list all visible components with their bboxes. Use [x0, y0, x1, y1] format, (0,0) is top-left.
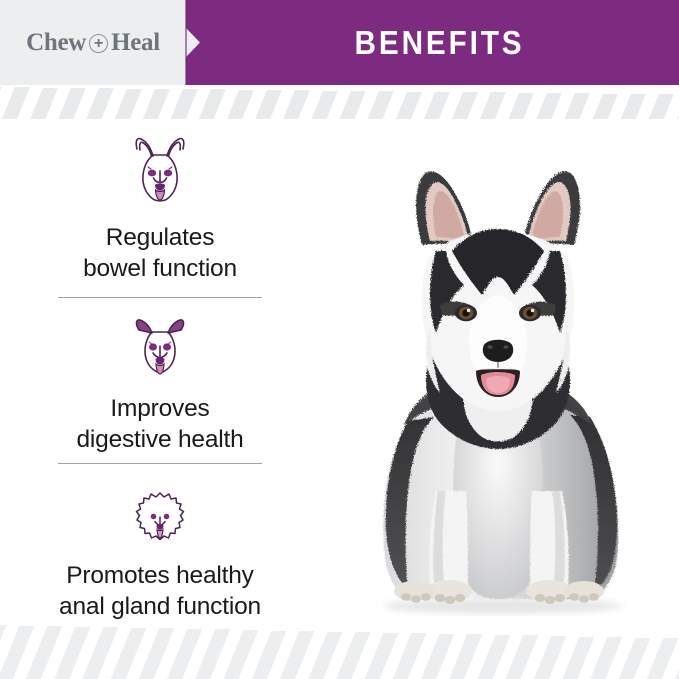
benefit-divider-1 [58, 297, 262, 298]
benefit-label-3: Promotes healthy anal gland function [0, 561, 320, 623]
brand-logo: Chew + Heal [0, 0, 186, 85]
benefit-label-2: Improves digestive health [0, 394, 320, 456]
benefit-divider-2 [58, 463, 262, 464]
page-title: BENEFITS [224, 0, 655, 85]
brand-name-part2: Heal [111, 29, 160, 57]
bottom-stripe-band [0, 617, 679, 679]
corgi-dog-face-icon [0, 133, 320, 213]
benefits-list: Regulates bowel function [0, 119, 320, 617]
stripe [673, 95, 679, 120]
stripe [1, 87, 30, 119]
benefit-item-3: Promotes healthy anal gland function [0, 471, 320, 623]
husky-dog-sitting-photo [318, 119, 679, 617]
stripe [645, 94, 674, 119]
stripe [29, 88, 58, 119]
benefit-label-1: Regulates bowel function [0, 223, 320, 285]
stripe [477, 92, 506, 119]
plus-circle-icon: + [89, 34, 108, 53]
stripe [421, 92, 450, 119]
stripe [281, 90, 310, 119]
stripe [533, 93, 562, 119]
stripe [365, 91, 394, 119]
stripe [225, 90, 254, 119]
stripe [197, 89, 226, 119]
benefit-item-1: Regulates bowel function [0, 133, 320, 285]
stripe [113, 89, 142, 120]
stripe [57, 88, 86, 119]
stripe [617, 94, 646, 119]
fluffy-dog-face-icon [0, 471, 320, 551]
stripe [169, 89, 198, 119]
stripe [589, 94, 618, 119]
header-bar: Chew + Heal BENEFITS [0, 0, 679, 85]
stripe [0, 87, 2, 119]
stripe [561, 93, 590, 119]
stripe [309, 91, 338, 119]
stripe [505, 93, 534, 119]
stripe [85, 88, 114, 119]
stripe [337, 91, 366, 119]
stripe [141, 89, 170, 119]
stripe [253, 90, 282, 119]
terrier-dog-face-icon [0, 304, 320, 384]
stripe [449, 92, 478, 119]
top-stripe-band [0, 85, 679, 119]
benefit-item-2: Improves digestive health [0, 304, 320, 456]
stripe [393, 92, 422, 120]
brand-name-part1: Chew [26, 29, 86, 57]
